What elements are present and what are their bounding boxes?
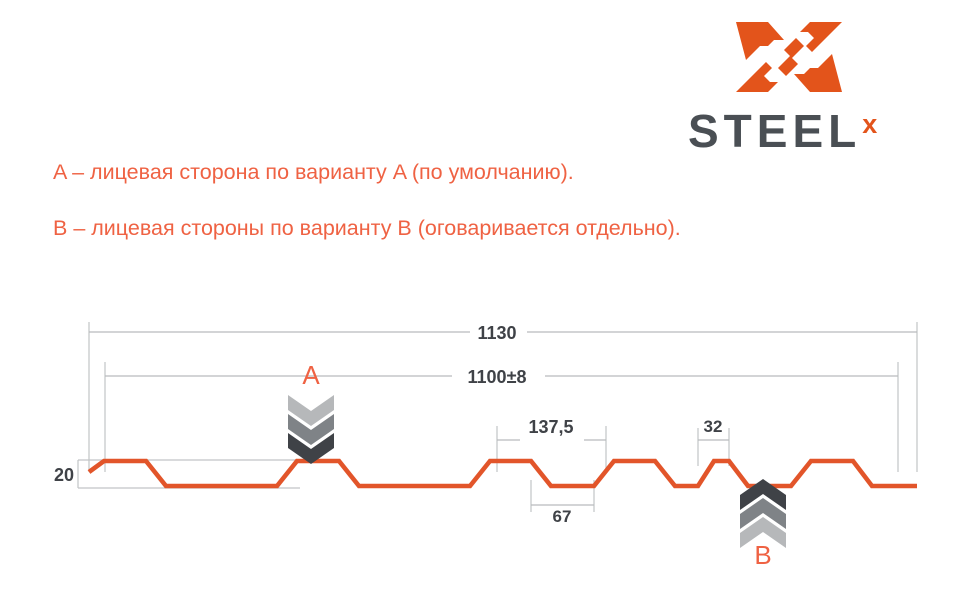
caption-variant-b: B – лицевая стороны по варианту B (огова…: [53, 216, 681, 241]
steelx-logo-icon: [734, 18, 844, 96]
caption-variant-a: A – лицевая сторона по варианту A (по ум…: [53, 160, 574, 185]
marker-a-letter: A: [302, 360, 320, 390]
extension-lines: [89, 322, 917, 472]
dimension-crest-width-label: 32: [704, 417, 723, 436]
brand-logo: STEEL x: [688, 18, 903, 148]
dimension-height-label: 20: [54, 465, 74, 485]
dimension-valley-width-label: 67: [553, 507, 572, 526]
dimension-working-width: 1100±8: [105, 367, 898, 387]
profile-drawing: 1130 1100±8 137,5 32: [0, 300, 970, 597]
brand-wordmark-main: STEEL: [688, 108, 861, 154]
marker-b-chevrons: [740, 479, 786, 548]
dimension-working-width-label: 1100±8: [468, 367, 527, 387]
marker-b: B: [740, 479, 786, 570]
dimension-total-width: 1130: [89, 323, 917, 343]
marker-b-letter: B: [754, 540, 771, 570]
dimension-pitch-label: 137,5: [528, 417, 573, 437]
drawing-page: STEEL x A – лицевая сторона по варианту …: [0, 0, 970, 597]
marker-a-chevrons: [288, 395, 334, 464]
dimension-pitch: 137,5: [497, 417, 606, 472]
dimension-total-width-label: 1130: [477, 323, 516, 343]
profile-cross-section: [89, 461, 917, 486]
dimension-crest-width: 32: [698, 417, 729, 466]
brand-wordmark: STEEL x: [688, 108, 903, 150]
brand-wordmark-superscript: x: [862, 111, 877, 138]
